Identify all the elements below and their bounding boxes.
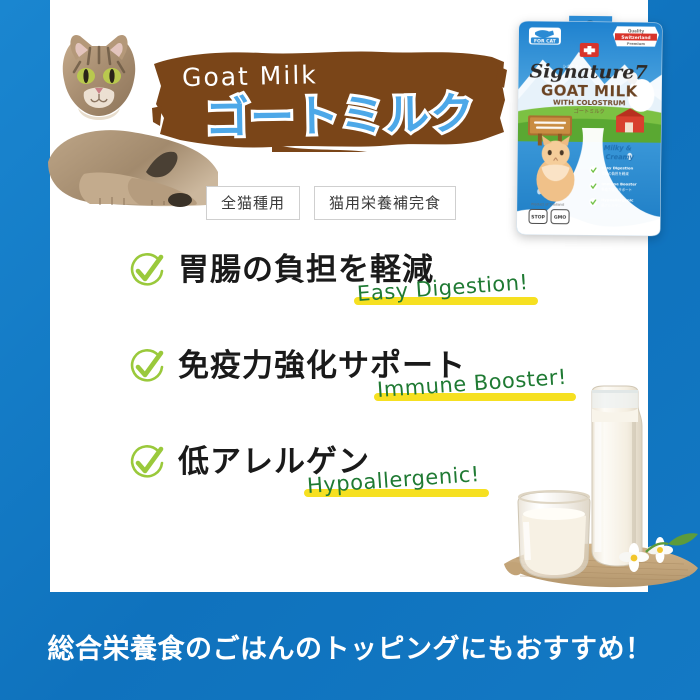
- check-circle-icon: [128, 444, 166, 482]
- svg-text:Creamy: Creamy: [606, 153, 635, 161]
- svg-text:Milky &: Milky &: [604, 144, 632, 152]
- svg-text:GMO: GMO: [554, 215, 566, 221]
- tabby-cat-photo: [28, 22, 218, 222]
- feature-list: 胃腸の負担を軽減 Easy Digestion! 免疫力強化サポート Immun…: [128, 244, 558, 532]
- badge-nutrition-supplement: 猫用栄養補完食: [314, 186, 456, 220]
- svg-text:Immune Booster: Immune Booster: [601, 181, 636, 186]
- feature-item: 免疫力強化サポート Immune Booster!: [128, 340, 558, 436]
- feature-item: 胃腸の負担を軽減 Easy Digestion!: [128, 244, 558, 340]
- svg-text:免疫力強化サポート: 免疫力強化サポート: [601, 187, 632, 192]
- svg-text:Easy Digestion: Easy Digestion: [602, 165, 634, 170]
- check-circle-icon: [128, 252, 166, 290]
- bottom-banner-text: 総合栄養食のごはんのトッピングにもおすすめ！: [48, 627, 653, 666]
- svg-text:Premium: Premium: [627, 42, 645, 46]
- promo-image-root: Goat Milk ゴートミルク: [0, 0, 700, 700]
- svg-text:Switzerland: Switzerland: [621, 35, 650, 41]
- svg-text:Product of Thailand: Product of Thailand: [531, 202, 564, 206]
- check-circle-icon: [128, 348, 166, 386]
- svg-text:低アレルゲン: 低アレルゲン: [601, 203, 622, 208]
- product-package: FOR CAT Quality Switzerland Premium シグネチ…: [511, 15, 668, 239]
- svg-text:STOP: STOP: [531, 214, 545, 220]
- svg-text:胃腸の負担を軽減: 胃腸の負担を軽減: [601, 171, 629, 176]
- milk-still-life: [500, 382, 700, 594]
- badge-row: 全猫種用 猫用栄養補完食: [206, 186, 456, 220]
- svg-text:Quality: Quality: [628, 28, 645, 33]
- svg-text:Hypoallergenic: Hypoallergenic: [601, 197, 633, 202]
- feature-english-wrap: Hypoallergenic!: [308, 474, 481, 498]
- title-japanese: ゴートミルク: [204, 78, 475, 147]
- feature-english-wrap: Easy Digestion!: [358, 282, 530, 306]
- badge-all-cat-breeds: 全猫種用: [206, 186, 300, 220]
- svg-text:Signature7: Signature7: [529, 60, 647, 83]
- svg-text:FOR CAT: FOR CAT: [534, 38, 557, 44]
- bottom-banner: 総合栄養食のごはんのトッピングにもおすすめ！: [0, 592, 700, 700]
- svg-text:WITH COLOSTRUM: WITH COLOSTRUM: [553, 99, 626, 108]
- feature-item: 低アレルゲン Hypoallergenic!: [128, 436, 558, 532]
